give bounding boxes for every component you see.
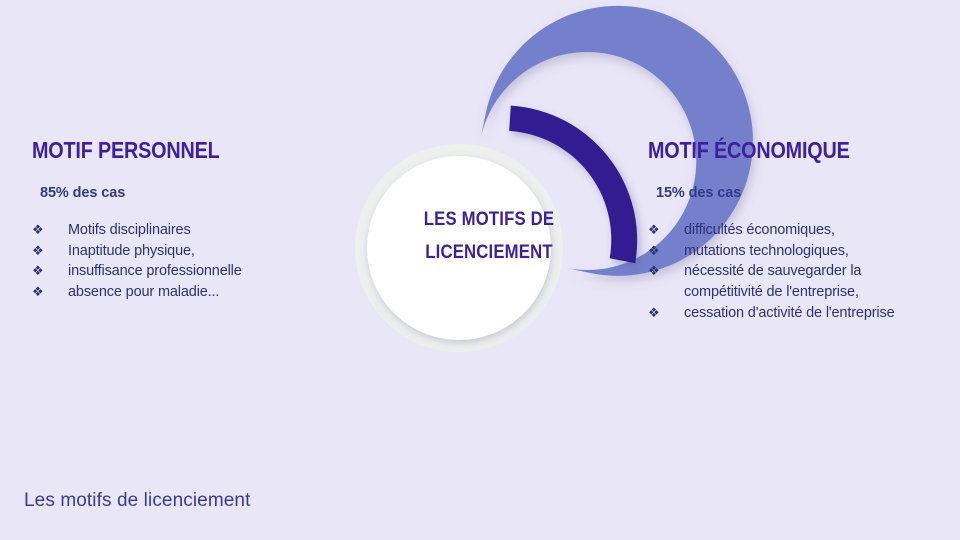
list-item: ❖ difficultés économiques, (648, 220, 948, 241)
donut-center-disc (367, 156, 551, 340)
diamond-bullet-icon: ❖ (648, 220, 684, 240)
left-column-bullet-list: ❖ Motifs disciplinaires ❖ Inaptitude phy… (32, 220, 332, 302)
diamond-bullet-icon: ❖ (648, 241, 684, 261)
left-column-heading: MOTIF PERSONNEL (32, 138, 290, 163)
diamond-bullet-icon: ❖ (32, 261, 68, 281)
right-column: MOTIF ÉCONOMIQUE 15% des cas ❖ difficult… (648, 138, 948, 323)
list-item: ❖ absence pour maladie... (32, 282, 332, 303)
diamond-bullet-icon: ❖ (648, 261, 684, 281)
list-item-label: mutations technologiques, (684, 241, 934, 262)
list-item-label: cessation d'activité de l'entreprise (684, 303, 934, 324)
list-item-label: absence pour maladie... (68, 282, 298, 303)
list-item-label: Motifs disciplinaires (68, 220, 298, 241)
list-item-label: difficultés économiques, (684, 220, 934, 241)
left-column-subheading: 85% des cas (40, 185, 332, 201)
list-item: ❖ cessation d'activité de l'entreprise (648, 303, 948, 324)
list-item-label: Inaptitude physique, (68, 241, 298, 262)
diamond-bullet-icon: ❖ (32, 220, 68, 240)
list-item: ❖ insuffisance professionnelle (32, 261, 332, 282)
list-item: ❖ Inaptitude physique, (32, 241, 332, 262)
list-item: ❖ mutations technologiques, (648, 241, 948, 262)
diamond-bullet-icon: ❖ (32, 282, 68, 302)
donut-chart: LES MOTIFS DE LICENCIEMENT (310, 85, 650, 405)
right-column-subheading: 15% des cas (656, 185, 948, 201)
slide-caption: Les motifs de licenciement (24, 490, 250, 512)
diamond-bullet-icon: ❖ (648, 303, 684, 323)
right-column-heading: MOTIF ÉCONOMIQUE (648, 138, 906, 163)
diamond-bullet-icon: ❖ (32, 241, 68, 261)
left-column: MOTIF PERSONNEL 85% des cas ❖ Motifs dis… (32, 138, 332, 303)
slide-canvas: MOTIF PERSONNEL 85% des cas ❖ Motifs dis… (0, 0, 960, 540)
donut-chart-svg (310, 85, 650, 405)
list-item-label: insuffisance professionnelle (68, 261, 298, 282)
list-item: ❖ Motifs disciplinaires (32, 220, 332, 241)
right-column-bullet-list: ❖ difficultés économiques, ❖ mutations t… (648, 220, 948, 323)
list-item: ❖ nécessité de sauvegarder la compétitiv… (648, 261, 948, 302)
list-item-label: nécessité de sauvegarder la compétitivit… (684, 261, 934, 302)
